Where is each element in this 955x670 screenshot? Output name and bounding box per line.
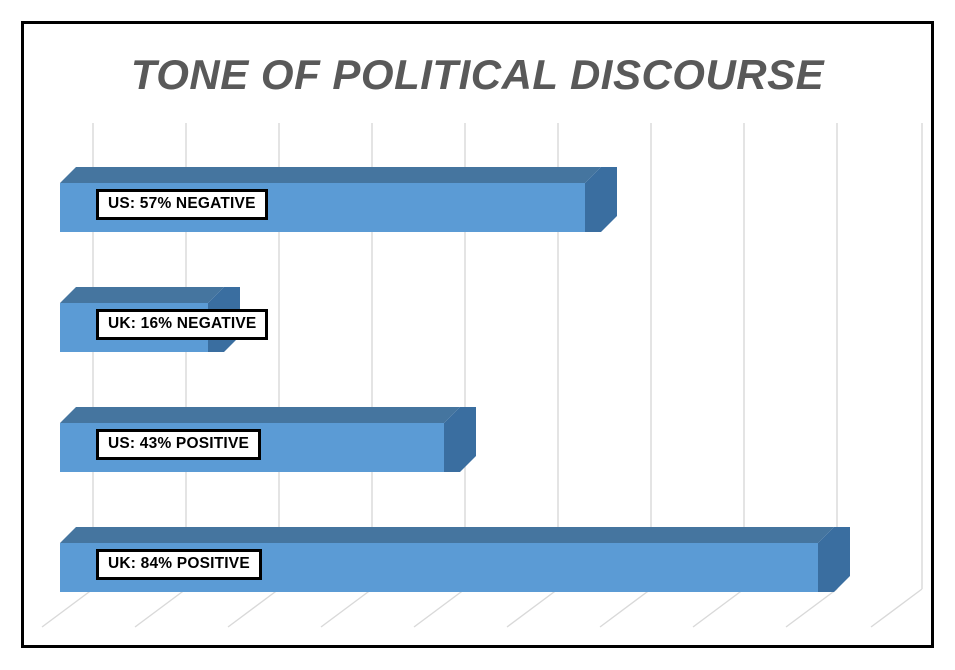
bar-value-label: UK: 84% POSITIVE — [96, 549, 262, 580]
chart-frame: TONE OF POLITICAL DISCOURSE — [21, 21, 934, 648]
plot-area: US: 57% NEGATIVE UK: 16% NEGATIVE — [24, 24, 937, 651]
bar-row: UK: 84% POSITIVE — [60, 527, 855, 599]
bar-value-label: UK: 16% NEGATIVE — [96, 309, 268, 340]
bars-layer: US: 57% NEGATIVE UK: 16% NEGATIVE — [24, 24, 937, 651]
bar-value-label: US: 43% POSITIVE — [96, 429, 261, 460]
bar-row: UK: 16% NEGATIVE — [60, 287, 260, 359]
bar-value-label: US: 57% NEGATIVE — [96, 189, 268, 220]
chart-screenshot: TONE OF POLITICAL DISCOURSE — [0, 0, 955, 670]
bar-row: US: 43% POSITIVE — [60, 407, 480, 479]
bar-row: US: 57% NEGATIVE — [60, 167, 620, 239]
